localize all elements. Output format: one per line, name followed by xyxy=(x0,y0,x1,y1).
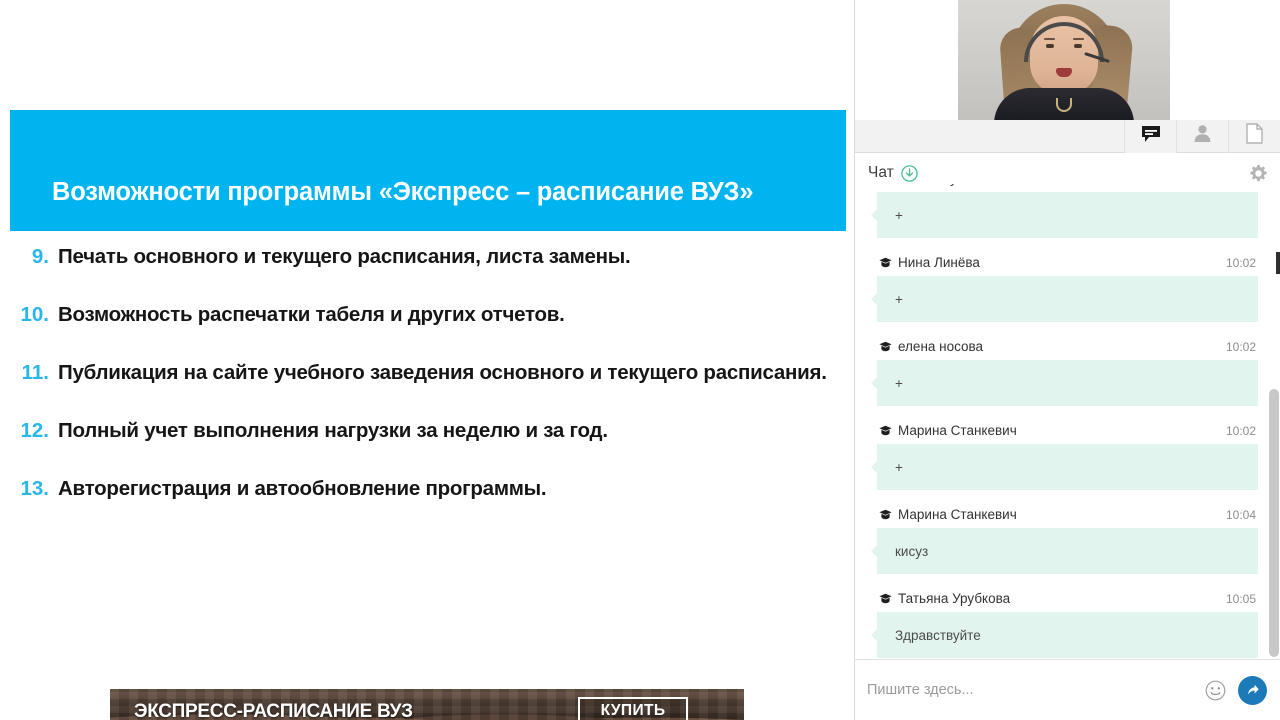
chat-message-bubble: + xyxy=(877,360,1258,406)
scroll-edge-marker xyxy=(1276,252,1280,274)
chat-message-author: Марина Станкевич xyxy=(898,423,1226,438)
promo-banner[interactable]: ЭКСПРЕСС-РАСПИСАНИЕ ВУЗ КУПИТЬ xyxy=(110,689,744,720)
presenter-brow-right xyxy=(1073,38,1084,40)
list-item-number: 13. xyxy=(0,477,58,501)
chat-scrollbar-thumb[interactable] xyxy=(1269,389,1279,657)
chat-message-time: 10:02 xyxy=(1226,256,1256,270)
chat-message-header: Татьяна Урубкова 10:05 xyxy=(877,588,1258,609)
chat-message-header: Нина Линёва 10:02 xyxy=(877,252,1258,273)
list-item-number: 9. xyxy=(0,245,58,269)
chat-message: елена носова 10:02 + xyxy=(877,336,1258,406)
smiley-icon[interactable] xyxy=(1205,680,1226,701)
graduation-cap-icon xyxy=(879,257,892,268)
presenter-eye-right xyxy=(1074,44,1082,48)
send-arrow-icon[interactable] xyxy=(1238,676,1267,705)
list-item-text: Публикация на сайте учебного заведения о… xyxy=(58,361,827,385)
tab-chat[interactable] xyxy=(1124,120,1176,153)
panel-tab-bar xyxy=(855,120,1280,153)
promo-banner-title: ЭКСПРЕСС-РАСПИСАНИЕ ВУЗ xyxy=(134,701,413,720)
chat-message-author: елена носова xyxy=(898,339,1226,354)
chat-message-header: Марина Станкевич 10:04 xyxy=(877,504,1258,525)
chat-message-bubble: + xyxy=(877,444,1258,490)
video-area xyxy=(855,0,1280,120)
presenter-brow-left xyxy=(1044,38,1055,40)
list-item-number: 10. xyxy=(0,303,58,327)
spacer xyxy=(855,406,1280,420)
webinar-screen: Возможности программы «Экспресс – распис… xyxy=(0,0,1280,720)
list-item-text: Возможность распечатки табеля и других о… xyxy=(58,303,565,327)
list-item: 10. Возможность распечатки табеля и друг… xyxy=(0,303,854,361)
spacer xyxy=(855,238,1280,252)
tab-people[interactable] xyxy=(1176,120,1228,153)
chat-message-header: Алла Стукова xyxy=(877,184,1258,189)
chat-message-time: 10:05 xyxy=(1226,592,1256,606)
chat-message-list[interactable]: Алла Стукова + Нина Линёва 10:02 + xyxy=(855,184,1280,659)
chat-message-header: елена носова 10:02 xyxy=(877,336,1258,357)
list-item-number: 12. xyxy=(0,419,58,443)
chat-message-header: Марина Станкевич 10:02 xyxy=(877,420,1258,441)
document-icon xyxy=(1246,123,1263,149)
buy-button[interactable]: КУПИТЬ xyxy=(578,697,688,720)
chat-bubble-icon xyxy=(1141,125,1161,148)
chat-message-author: Марина Станкевич xyxy=(898,507,1226,522)
list-item: 11. Публикация на сайте учебного заведен… xyxy=(0,361,854,419)
chat-message-author: Нина Линёва xyxy=(898,255,1226,270)
chat-message-bubble: + xyxy=(877,192,1258,238)
chat-message: Марина Станкевич 10:02 + xyxy=(877,420,1258,490)
chat-message-bubble: Здравствуйте xyxy=(877,612,1258,658)
chat-message-author: Алла Стукова xyxy=(898,184,1256,186)
list-item-text: Авторегистрация и автообновление програм… xyxy=(58,477,546,501)
chat-message-bubble: кисуз xyxy=(877,528,1258,574)
list-item-text: Печать основного и текущего расписания, … xyxy=(58,245,630,269)
spacer xyxy=(855,322,1280,336)
spacer xyxy=(855,490,1280,504)
chat-message-author: Татьяна Урубкова xyxy=(898,591,1226,606)
download-circle-icon[interactable] xyxy=(901,165,918,182)
presentation-slide-area: Возможности программы «Экспресс – распис… xyxy=(0,0,854,720)
chat-message: Нина Линёва 10:02 + xyxy=(877,252,1258,322)
tab-files[interactable] xyxy=(1228,120,1280,153)
slide-bullet-list: 9. Печать основного и текущего расписани… xyxy=(0,245,854,535)
presenter-eye-left xyxy=(1046,44,1054,48)
chat-message: Алла Стукова + xyxy=(877,184,1258,238)
chat-message-bubble: + xyxy=(877,276,1258,322)
list-item: 13. Авторегистрация и автообновление про… xyxy=(0,477,854,535)
graduation-cap-icon xyxy=(879,509,892,520)
right-sidebar: Чат Алла С xyxy=(854,0,1280,720)
list-item: 9. Печать основного и текущего расписани… xyxy=(0,245,854,303)
presenter-webcam-tile[interactable] xyxy=(958,0,1170,120)
slide-title: Возможности программы «Экспресс – распис… xyxy=(52,178,826,207)
person-icon xyxy=(1193,124,1212,148)
chat-message-time: 10:02 xyxy=(1226,340,1256,354)
chat-message: Марина Станкевич 10:04 кисуз xyxy=(877,504,1258,574)
graduation-cap-icon xyxy=(879,425,892,436)
chat-message: Татьяна Урубкова 10:05 Здравствуйте xyxy=(877,588,1258,658)
graduation-cap-icon xyxy=(879,593,892,604)
chat-input-bar xyxy=(855,659,1280,720)
list-item: 12. Полный учет выполнения нагрузки за н… xyxy=(0,419,854,477)
slide-title-band: Возможности программы «Экспресс – распис… xyxy=(10,110,846,231)
list-item-number: 11. xyxy=(0,361,58,385)
chat-title: Чат xyxy=(868,164,894,182)
chat-message-time: 10:02 xyxy=(1226,424,1256,438)
spacer xyxy=(855,574,1280,588)
chat-message-time: 10:04 xyxy=(1226,508,1256,522)
chat-input[interactable] xyxy=(867,682,1205,698)
list-item-text: Полный учет выполнения нагрузки за недел… xyxy=(58,419,608,443)
graduation-cap-icon xyxy=(879,341,892,352)
